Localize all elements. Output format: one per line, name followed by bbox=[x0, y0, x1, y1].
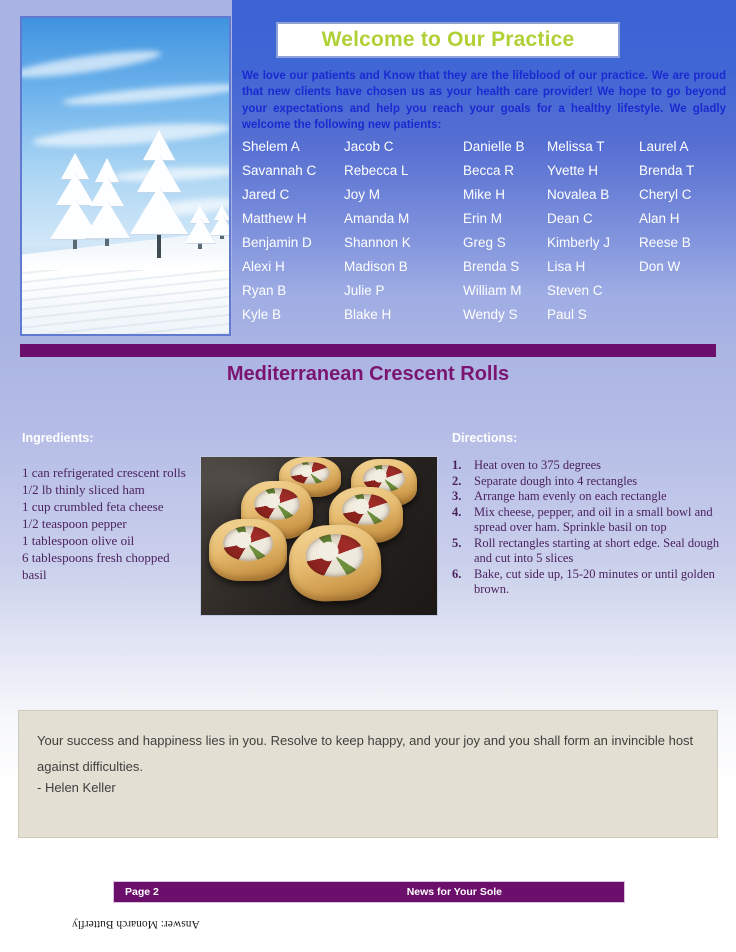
cloud-streak bbox=[20, 46, 162, 83]
step-text: Separate dough into 4 rectangles bbox=[474, 474, 730, 490]
snowy-pine-tree bbox=[130, 130, 188, 258]
quote-text: Your success and happiness lies in you. … bbox=[37, 728, 697, 780]
direction-step: 1. Heat oven to 375 degrees bbox=[452, 458, 730, 474]
intro-paragraph: We love our patients and Know that they … bbox=[242, 68, 726, 133]
patient-name: Brenda T bbox=[639, 159, 729, 183]
ingredient-item: 1/2 lb thinly sliced ham bbox=[22, 481, 192, 498]
patient-name: Shelem A bbox=[242, 135, 344, 159]
patient-name: Novalea B bbox=[547, 183, 639, 207]
patient-name: Rebecca L bbox=[344, 159, 463, 183]
patient-name: Kimberly J bbox=[547, 231, 639, 255]
patient-name: Alan H bbox=[639, 207, 729, 231]
ingredient-item: 6 tablespoons fresh chopped basil bbox=[22, 549, 192, 583]
patient-name: Melissa T bbox=[547, 135, 639, 159]
patient-name: Alexi H bbox=[242, 255, 344, 279]
direction-step: 4. Mix cheese, pepper, and oil in a smal… bbox=[452, 505, 730, 536]
quote-box: Your success and happiness lies in you. … bbox=[18, 710, 718, 838]
patient-name: Savannah C bbox=[242, 159, 344, 183]
directions-label: Directions: bbox=[452, 431, 517, 445]
patient-name: Danielle B bbox=[463, 135, 547, 159]
patient-name: Brenda S bbox=[463, 255, 547, 279]
ingredient-item: 1 cup crumbled feta cheese bbox=[22, 498, 192, 515]
patient-name: Kyle B bbox=[242, 303, 344, 327]
patient-name: Greg S bbox=[463, 231, 547, 255]
recipe-title: Mediterranean Crescent Rolls bbox=[0, 363, 736, 386]
patient-name: Benjamin D bbox=[242, 231, 344, 255]
patient-name: Matthew H bbox=[242, 207, 344, 231]
patient-name: Ryan B bbox=[242, 279, 344, 303]
patient-name: Amanda M bbox=[344, 207, 463, 231]
direction-step: 2. Separate dough into 4 rectangles bbox=[452, 474, 730, 490]
cloud-streak bbox=[62, 80, 231, 109]
patient-name: Jared C bbox=[242, 183, 344, 207]
patient-name: Blake H bbox=[344, 303, 463, 327]
patient-name: Erin M bbox=[463, 207, 547, 231]
step-number: 6. bbox=[452, 567, 474, 598]
patient-name: Paul S bbox=[547, 303, 639, 327]
patient-name: William M bbox=[463, 279, 547, 303]
patient-name: Mike H bbox=[463, 183, 547, 207]
patient-name: Shannon K bbox=[344, 231, 463, 255]
ingredients-label: Ingredients: bbox=[22, 431, 94, 445]
header-section: Welcome to Our Practice We love our pati… bbox=[0, 0, 736, 344]
newsletter-title: News for Your Sole bbox=[407, 886, 502, 898]
step-text: Mix cheese, pepper, and oil in a small b… bbox=[474, 505, 730, 536]
footer-bar: Page 2 News for Your Sole bbox=[113, 881, 625, 903]
newsletter-page: Welcome to Our Practice We love our pati… bbox=[0, 0, 736, 952]
patient-name bbox=[639, 279, 729, 303]
snowy-pine-tree bbox=[84, 158, 130, 246]
step-number: 4. bbox=[452, 505, 474, 536]
crescent-rolls-photo bbox=[200, 456, 438, 616]
patient-name bbox=[639, 303, 729, 327]
step-number: 3. bbox=[452, 489, 474, 505]
welcome-panel: Welcome to Our Practice We love our pati… bbox=[232, 0, 736, 344]
snowy-pine-tree bbox=[210, 205, 231, 239]
direction-step: 6. Bake, cut side up, 15-20 minutes or u… bbox=[452, 567, 730, 598]
crescent-roll-pinwheel bbox=[288, 523, 383, 602]
patient-name: Wendy S bbox=[463, 303, 547, 327]
step-number: 5. bbox=[452, 536, 474, 567]
ingredient-item: 1 tablespoon olive oil bbox=[22, 532, 192, 549]
directions-list: 1. Heat oven to 375 degrees 2. Separate … bbox=[452, 458, 730, 598]
step-number: 1. bbox=[452, 458, 474, 474]
section-divider-bar bbox=[20, 344, 716, 357]
patient-name: Yvette H bbox=[547, 159, 639, 183]
ingredient-item: 1 can refrigerated crescent rolls bbox=[22, 464, 192, 481]
ingredient-item: 1/2 teaspoon pepper bbox=[22, 515, 192, 532]
welcome-title-box: Welcome to Our Practice bbox=[276, 22, 620, 58]
patient-name: Don W bbox=[639, 255, 729, 279]
patient-name: Jacob C bbox=[344, 135, 463, 159]
answer-note-upside-down: Answer: Monarch Butterfly bbox=[72, 918, 200, 930]
direction-step: 5. Roll rectangles starting at short edg… bbox=[452, 536, 730, 567]
welcome-title: Welcome to Our Practice bbox=[322, 28, 575, 52]
step-text: Bake, cut side up, 15-20 minutes or unti… bbox=[474, 567, 730, 598]
step-text: Arrange ham evenly on each rectangle bbox=[474, 489, 730, 505]
patient-name: Joy M bbox=[344, 183, 463, 207]
direction-step: 3. Arrange ham evenly on each rectangle bbox=[452, 489, 730, 505]
new-patients-list: Shelem A Jacob C Danielle B Melissa T La… bbox=[242, 135, 736, 327]
step-number: 2. bbox=[452, 474, 474, 490]
page-number: Page 2 bbox=[125, 886, 159, 898]
crescent-roll-pinwheel bbox=[209, 519, 287, 581]
patient-name: Laurel A bbox=[639, 135, 729, 159]
patient-name: Dean C bbox=[547, 207, 639, 231]
patient-name: Julie P bbox=[344, 279, 463, 303]
ingredients-list: 1 can refrigerated crescent rolls 1/2 lb… bbox=[22, 464, 192, 583]
patient-name: Becca R bbox=[463, 159, 547, 183]
step-text: Roll rectangles starting at short edge. … bbox=[474, 536, 730, 567]
patient-name: Reese B bbox=[639, 231, 729, 255]
quote-author: - Helen Keller bbox=[37, 780, 116, 795]
patient-name: Cheryl C bbox=[639, 183, 729, 207]
patient-name: Madison B bbox=[344, 255, 463, 279]
patient-name: Steven C bbox=[547, 279, 639, 303]
step-text: Heat oven to 375 degrees bbox=[474, 458, 730, 474]
patient-name: Lisa H bbox=[547, 255, 639, 279]
winter-landscape-photo bbox=[20, 16, 231, 336]
